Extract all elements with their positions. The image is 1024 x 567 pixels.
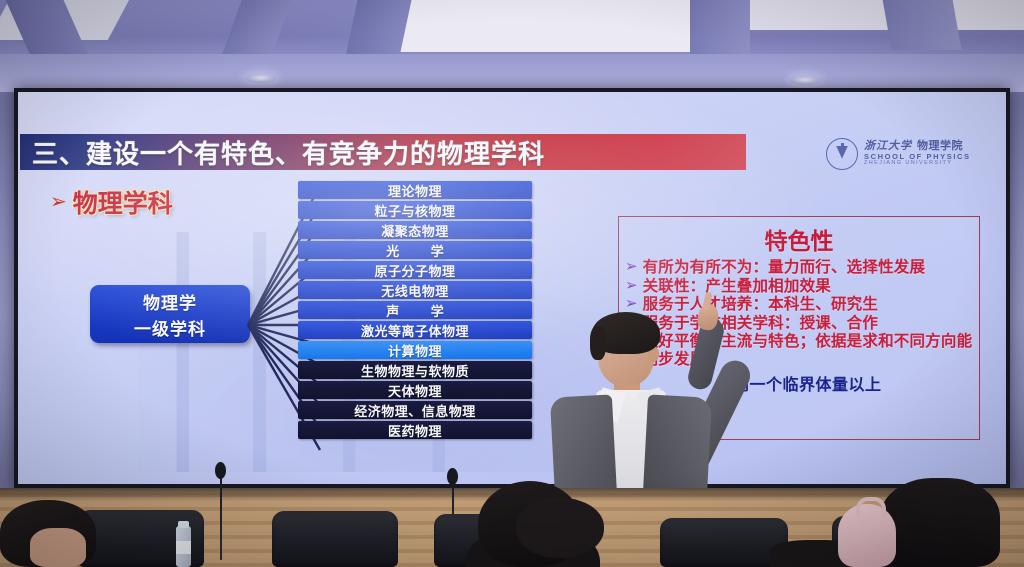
projection-screen: 三、建设一个有特色、有竞争力的物理学科 浙江大学 物理学院 SCHOOL OF …	[18, 92, 1006, 484]
list-item[interactable]: 凝聚态物理	[298, 221, 532, 239]
list-item[interactable]: 经济物理、信息物理	[298, 401, 532, 419]
list-item[interactable]: 粒子与核物理	[298, 201, 532, 219]
zhejiang-university-seal-icon	[826, 138, 858, 170]
root-node-line-1: 物理学	[143, 289, 197, 314]
water-bottle-cap	[178, 521, 189, 528]
ceiling-soffit	[0, 54, 1024, 92]
list-item[interactable]: 天体物理	[298, 381, 532, 399]
microphone-icon[interactable]	[215, 462, 226, 479]
speaker-hair	[590, 326, 606, 360]
feature-bullet-text: 关联性：产生叠加相加效果	[643, 278, 831, 296]
logo-en-university: ZHEJIANG UNIVERSITY	[864, 161, 971, 167]
slide-title-banner: 三、建设一个有特色、有竞争力的物理学科	[20, 134, 746, 170]
handbag-handle	[856, 497, 886, 517]
bullet-arrow-icon: ➢	[625, 259, 638, 276]
discipline-label: 光 学	[372, 241, 458, 260]
list-item[interactable]: 激光等离子体物理	[298, 321, 532, 339]
audience-face	[30, 528, 86, 567]
microphone-stem	[220, 474, 222, 560]
audience-person	[880, 478, 1000, 567]
downlight-icon	[246, 74, 276, 83]
discipline-label: 激光等离子体物理	[361, 321, 469, 340]
discipline-label: 经济物理、信息物理	[354, 401, 476, 420]
discipline-label: 生物物理与软物质	[361, 361, 469, 380]
list-item[interactable]: 计算物理	[298, 341, 532, 359]
discipline-label: 无线电物理	[381, 281, 449, 300]
slide-subheading: ➢ 物理学科	[50, 184, 173, 220]
bullet-arrow-icon: ➢	[625, 278, 638, 295]
university-logo: 浙江大学 物理学院 SCHOOL OF PHYSICS ZHEJIANG UNI…	[826, 136, 1002, 172]
discipline-label: 计算物理	[388, 341, 442, 360]
logo-text-block: 浙江大学 物理学院 SCHOOL OF PHYSICS ZHEJIANG UNI…	[864, 141, 971, 166]
discipline-label: 凝聚态物理	[381, 221, 449, 240]
discipline-label: 原子分子物理	[374, 261, 455, 280]
list-item[interactable]: 医药物理	[298, 421, 532, 439]
list-item: ➢ 有所为有所不为：量力而行、选择性发展	[625, 259, 973, 277]
discipline-list: 理论物理 粒子与核物理 凝聚态物理 光 学 原子分子物理 无线电物理 声 学 激…	[298, 181, 532, 439]
discipline-label: 医药物理	[388, 421, 442, 440]
chair	[660, 518, 788, 567]
ceiling-beam	[881, 0, 962, 50]
feature-panel-title: 特色性	[619, 222, 979, 256]
chair	[272, 511, 398, 567]
discipline-label: 粒子与核物理	[374, 201, 455, 220]
list-item[interactable]: 生物物理与软物质	[298, 361, 532, 379]
discipline-label: 声 学	[372, 301, 458, 320]
root-node-line-2: 一级学科	[134, 315, 206, 340]
list-item[interactable]: 光 学	[298, 241, 532, 259]
list-item[interactable]: 理论物理	[298, 181, 532, 199]
discipline-label: 理论物理	[388, 181, 442, 200]
subheading-label: 物理学科	[73, 184, 173, 220]
feature-bullet-text: 有所为有所不为：量力而行、选择性发展	[643, 259, 926, 277]
slide-title: 三、建设一个有特色、有竞争力的物理学科	[20, 134, 545, 171]
discipline-label: 天体物理	[388, 381, 442, 400]
audience-person	[516, 498, 604, 558]
ceiling-panel	[398, 0, 698, 52]
microphone-icon[interactable]	[447, 468, 458, 485]
bullet-arrow-icon: ➢	[50, 192, 67, 212]
list-item: ➢ 关联性：产生叠加相加效果	[625, 278, 973, 296]
discipline-root-node: 物理学 一级学科	[90, 285, 250, 343]
list-item[interactable]: 原子分子物理	[298, 261, 532, 279]
screenshot-stage: 三、建设一个有特色、有竞争力的物理学科 浙江大学 物理学院 SCHOOL OF …	[0, 0, 1024, 567]
water-bottle-label	[176, 541, 191, 554]
downlight-icon	[790, 76, 820, 85]
list-item[interactable]: 无线电物理	[298, 281, 532, 299]
ceiling	[0, 0, 1024, 92]
list-item[interactable]: 声 学	[298, 301, 532, 319]
